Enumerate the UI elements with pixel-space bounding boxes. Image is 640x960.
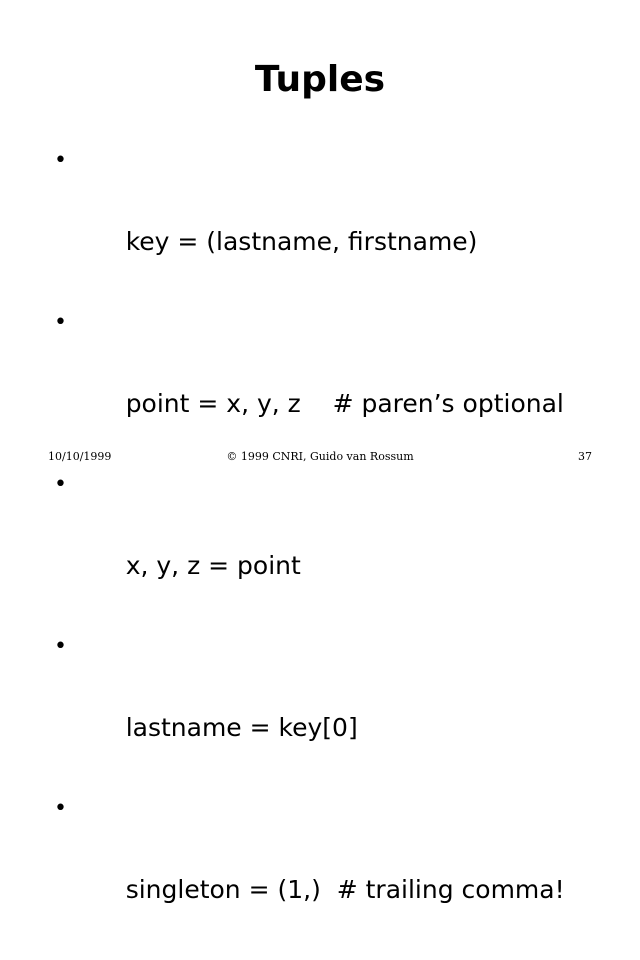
list-item: • point = x, y, z # paren’s optional: [52, 303, 612, 465]
list-item-text: lastname = key[0]: [126, 713, 358, 742]
bullet-icon: •: [54, 465, 74, 506]
list-item-text: key = (lastname, firstname): [126, 227, 478, 256]
bullet-icon: •: [54, 627, 74, 668]
page-title: Tuples: [0, 58, 640, 102]
list-item: • key = (lastname, firstname): [52, 141, 612, 303]
list-item-text: singleton = (1,) # trailing comma!: [126, 875, 565, 904]
bullet-list: • key = (lastname, firstname) • point = …: [52, 141, 612, 960]
bullet-icon: •: [54, 789, 74, 830]
bullet-icon: •: [54, 303, 74, 344]
bullet-icon: •: [54, 951, 74, 960]
bullet-icon: •: [54, 141, 74, 182]
slide-canvas: Tuples • key = (lastname, firstname) • p…: [0, 0, 640, 480]
footer-copyright: © 1999 CNRI, Guido van Rossum: [0, 449, 640, 465]
footer-page-number: 37: [578, 449, 592, 465]
list-item: • empty = () # parentheses!: [52, 951, 612, 960]
list-item-text: x, y, z = point: [126, 551, 301, 580]
list-item: • lastname = key[0]: [52, 627, 612, 789]
list-item-text: point = x, y, z # paren’s optional: [126, 389, 564, 418]
list-item: • x, y, z = point: [52, 465, 612, 627]
list-item: • singleton = (1,) # trailing comma!: [52, 789, 612, 951]
slide-footer: 10/10/1999 © 1999 CNRI, Guido van Rossum…: [0, 449, 640, 469]
